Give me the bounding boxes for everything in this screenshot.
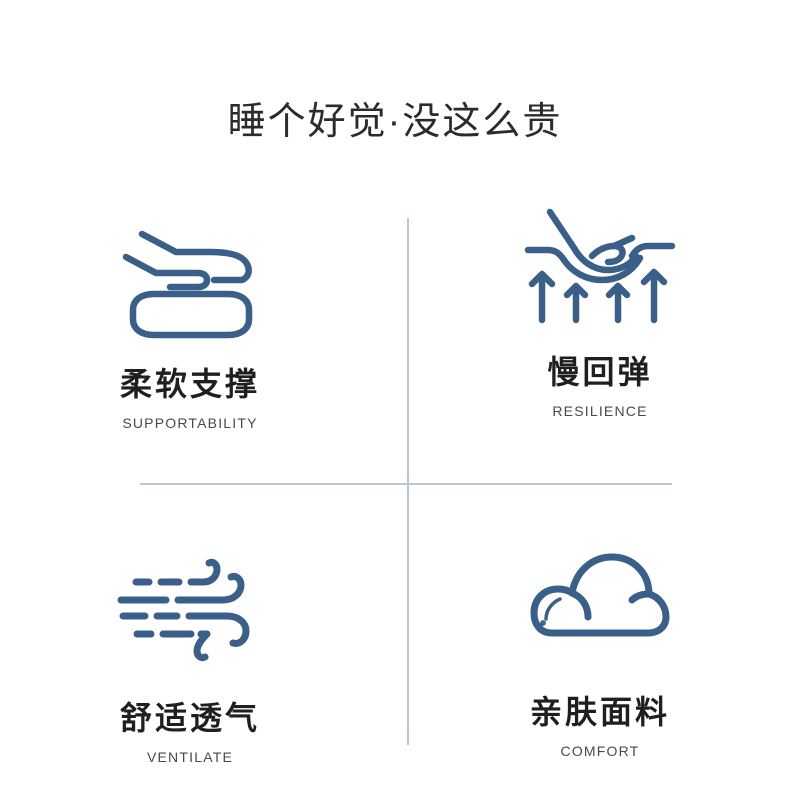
feature-cell-ventilate: 舒适透气 VENTILATE <box>25 545 355 767</box>
feature-cn-label: 亲肤面料 <box>435 691 765 733</box>
feature-cn-label: 舒适透气 <box>25 697 355 739</box>
promo-infographic-page: 睡个好觉·没这么贵 柔软支撑 SUPPORTABILITY <box>0 0 790 785</box>
feature-cell-resilience: 慢回弹 RESILIENCE <box>435 205 765 421</box>
horizontal-divider <box>140 483 672 485</box>
feature-cn-label: 慢回弹 <box>435 351 765 393</box>
feature-cn-label: 柔软支撑 <box>25 363 355 405</box>
feature-en-label: VENTILATE <box>25 747 355 767</box>
vertical-divider <box>407 218 409 745</box>
hand-with-upward-arrows-icon <box>435 205 765 335</box>
feature-en-label: SUPPORTABILITY <box>25 413 355 433</box>
hand-pressing-pillow-icon <box>25 215 355 345</box>
page-title: 睡个好觉·没这么贵 <box>0 97 790 147</box>
feature-cell-supportability: 柔软支撑 SUPPORTABILITY <box>25 215 355 433</box>
feature-cell-comfort: 亲肤面料 COMFORT <box>435 535 765 761</box>
feature-en-label: COMFORT <box>435 741 765 761</box>
wind-airflow-icon <box>25 545 355 675</box>
cloud-icon <box>435 535 765 665</box>
feature-en-label: RESILIENCE <box>435 401 765 421</box>
